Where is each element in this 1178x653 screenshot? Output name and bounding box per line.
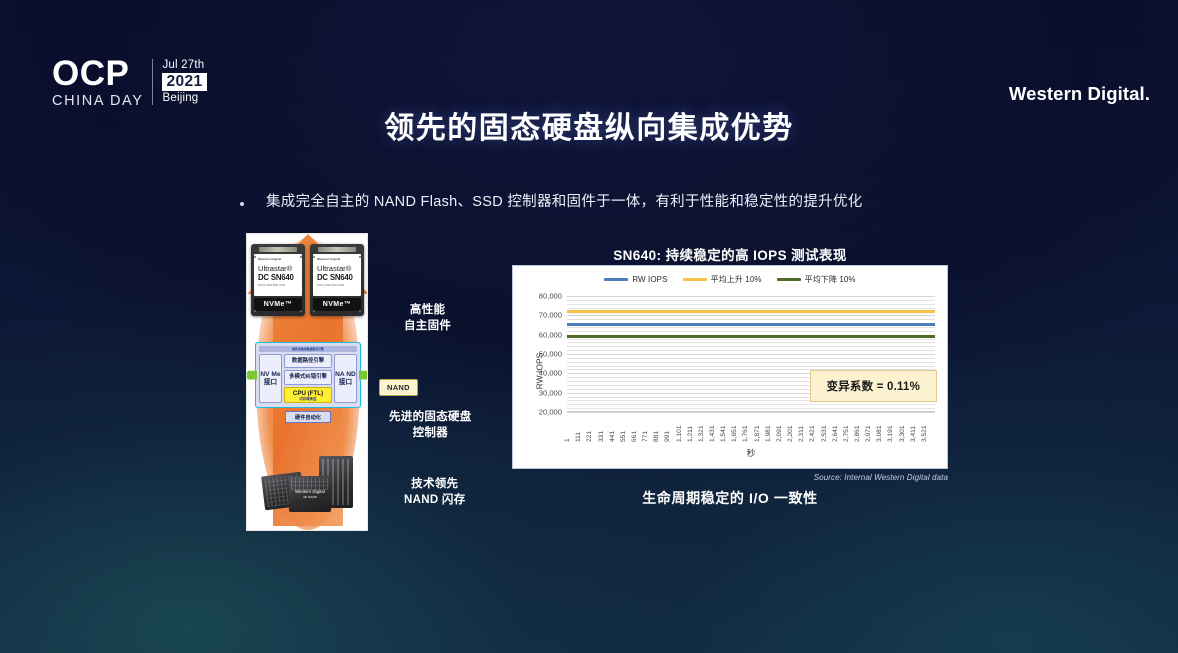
logo-divider xyxy=(152,59,153,105)
chart-inner: RW IOPS平均上升 10%平均下降 10% 80,00070,00060,0… xyxy=(517,270,943,464)
y-axis-tick-label: 80,000 xyxy=(539,292,562,301)
bullet-row: 集成完全自主的 NAND Flash、SSD 控制器和固件于一体，有利于性能和稳… xyxy=(240,192,863,212)
label-line-1: 先进的固态硬盘 xyxy=(389,410,472,426)
x-axis-tick-label: 2,091 xyxy=(776,425,783,442)
ssd-nvme-badge: NVMe™ xyxy=(313,298,361,311)
x-axis-tick-label: 1,211 xyxy=(687,426,694,442)
screw-icon xyxy=(359,310,361,312)
legend-swatch xyxy=(777,278,801,281)
gridline xyxy=(567,331,935,332)
x-axis-tick-label: 661 xyxy=(631,431,638,442)
gridline xyxy=(567,339,935,340)
screw-icon xyxy=(359,256,361,258)
legend-swatch xyxy=(604,278,628,281)
chart-legend: RW IOPS平均上升 10%平均下降 10% xyxy=(517,274,943,285)
x-axis-tick-labels: 11112213314415516617718819911,1011,2111,… xyxy=(567,410,935,442)
gridline xyxy=(567,304,935,305)
ssd-model: Ultrastar® DC SN640 xyxy=(258,265,298,281)
x-axis-tick-label: 1,761 xyxy=(742,425,749,442)
diagram-contents: Western Digital Ultrastar® DC SN640 DATA… xyxy=(247,234,367,530)
gridline xyxy=(567,327,935,328)
cpu-ftl-label: CPU (FTL) xyxy=(293,390,323,397)
x-axis-tick-label: 2,421 xyxy=(809,425,816,442)
diagram-label-firmware: 高性能 自主固件 xyxy=(404,303,451,334)
ssd-model-line1: Ultrastar® xyxy=(258,264,292,273)
chip-type: 3D NAND xyxy=(289,495,331,499)
y-axis-tick-label: 70,000 xyxy=(539,311,562,320)
event-year: 2021 xyxy=(162,73,206,91)
x-axis-tick-label: 551 xyxy=(620,431,627,442)
ssd-nvme-badge: NVMe™ xyxy=(254,298,302,311)
diagram-label-nand: 技术领先 NAND 闪存 xyxy=(404,477,466,508)
label-line-1: 高性能 xyxy=(404,303,451,319)
gridline xyxy=(567,358,935,359)
ssd-card: Western Digital Ultrastar® DC SN640 DATA… xyxy=(251,244,305,316)
gridline xyxy=(567,296,935,297)
x-axis-tick-label: 2,751 xyxy=(843,425,850,442)
gridline xyxy=(567,366,935,367)
nand-callout-tag: NAND xyxy=(379,379,418,396)
ssd-product-row: Western Digital Ultrastar® DC SN640 DATA… xyxy=(251,244,364,316)
gridline xyxy=(567,350,935,351)
x-axis-tick-label: 1,431 xyxy=(709,425,716,442)
ssd-model-line2: DC SN640 xyxy=(317,274,357,282)
nvme-interface-port: NV Me 接口 xyxy=(259,354,282,403)
y-axis-tick-label: 60,000 xyxy=(539,330,562,339)
data-series-line xyxy=(567,323,935,326)
y-axis-tick-label: 30,000 xyxy=(539,388,562,397)
event-date: Jul 27th xyxy=(162,59,206,73)
coefficient-of-variation-callout: 变异系数 = 0.11% xyxy=(810,370,937,402)
iops-chart-card: RW IOPS平均上升 10%平均下降 10% 80,00070,00060,0… xyxy=(512,265,948,469)
x-axis-tick-label: 1 xyxy=(564,438,571,442)
x-axis-tick-label: 111 xyxy=(575,432,582,442)
data-series-line xyxy=(567,335,935,338)
nand-chip-front: Western Digital 3D NAND xyxy=(289,476,331,512)
screw-icon xyxy=(313,256,315,258)
ecc-engine-box: 多模式纠错引擎 xyxy=(284,370,332,384)
ssd-brand: Western Digital xyxy=(258,257,298,261)
ssd-brand: Western Digital xyxy=(317,257,357,261)
vertical-integration-diagram: Western Digital Ultrastar® DC SN640 DATA… xyxy=(246,233,368,531)
x-axis-tick-label: 2,641 xyxy=(832,425,839,442)
legend-item: 平均上升 10% xyxy=(683,274,762,285)
ssd-connector xyxy=(259,247,297,252)
gridline xyxy=(567,354,935,355)
gridline xyxy=(567,300,935,301)
chart-title: SN640: 持续稳定的高 IOPS 测试表现 xyxy=(512,244,948,264)
controller-engines: 数据路径引擎 多模式纠错引擎 CPU (FTL) 闪存转换层 xyxy=(284,354,332,403)
x-axis-tick-label: 441 xyxy=(609,431,616,442)
gridline xyxy=(567,315,935,316)
x-axis-tick-label: 3,521 xyxy=(921,425,928,442)
bullet-dot-icon xyxy=(240,202,244,206)
bullet-text: 集成完全自主的 NAND Flash、SSD 控制器和固件于一体，有利于性能和稳… xyxy=(266,192,863,212)
x-axis-tick-label: 771 xyxy=(642,431,649,442)
ssd-category: DATA CENTER SSD xyxy=(317,283,357,287)
data-series-line xyxy=(567,310,935,313)
ssd-category: DATA CENTER SSD xyxy=(258,283,298,287)
controller-outline: 硬件加速的数据路径引擎 NV Me 接口 数据路径引擎 多模式纠错引擎 CPU … xyxy=(255,342,361,408)
ocp-event-info: Jul 27th 2021 Beijing xyxy=(162,59,206,106)
ssd-card: Western Digital Ultrastar® DC SN640 DATA… xyxy=(310,244,364,316)
x-axis-tick-label: 3,081 xyxy=(876,425,883,442)
ssd-connector xyxy=(318,247,356,252)
y-axis-title: RW IOPS xyxy=(534,353,544,390)
gridline xyxy=(567,404,935,405)
ssd-controller-block: 硬件加速的数据路径引擎 NV Me 接口 数据路径引擎 多模式纠错引擎 CPU … xyxy=(255,342,361,423)
x-axis-tick-label: 2,531 xyxy=(821,425,828,442)
ssd-model: Ultrastar® DC SN640 xyxy=(317,265,357,281)
ocp-china-day-logo: OCP CHINA DAY Jul 27th 2021 Beijing xyxy=(52,56,207,109)
screw-icon xyxy=(254,310,256,312)
cpu-ftl-sublabel: 闪存转换层 xyxy=(286,397,330,401)
x-axis-tick-label: 2,311 xyxy=(798,426,805,442)
left-arrow-icon xyxy=(246,371,257,380)
controller-header: 硬件加速的数据路径引擎 xyxy=(259,346,357,352)
x-axis-tick-label: 331 xyxy=(598,431,605,442)
ssd-model-line2: DC SN640 xyxy=(258,274,298,282)
controller-columns: NV Me 接口 数据路径引擎 多模式纠错引擎 CPU (FTL) 闪存转换层 … xyxy=(259,354,357,403)
chip-brand-label: Western Digital 3D NAND xyxy=(289,489,331,499)
legend-item: RW IOPS xyxy=(604,275,667,284)
diagram-label-controller: 先进的固态硬盘 控制器 xyxy=(389,410,472,441)
x-axis-tick-label: 1,871 xyxy=(754,425,761,442)
legend-item: 平均下降 10% xyxy=(777,274,856,285)
legend-swatch xyxy=(683,278,707,281)
x-axis-title: 秒 xyxy=(567,447,935,459)
ssd-label-face: Western Digital Ultrastar® DC SN640 DATA… xyxy=(313,254,361,296)
nand-chip-group: Western Digital 3D NAND xyxy=(261,452,357,514)
screw-icon xyxy=(300,256,302,258)
x-axis-tick-label: 3,411 xyxy=(910,426,917,442)
x-axis-tick-label: 1,651 xyxy=(731,425,738,442)
x-axis-tick-label: 1,981 xyxy=(765,425,772,442)
hardware-automation-tag: 硬件自动化 xyxy=(285,411,331,423)
ocp-logo-left: OCP CHINA DAY xyxy=(52,56,143,109)
screw-icon xyxy=(254,256,256,258)
cpu-ftl-box: CPU (FTL) 闪存转换层 xyxy=(284,387,332,404)
gridline xyxy=(567,342,935,343)
page-title: 领先的固态硬盘纵向集成优势 xyxy=(0,103,1178,147)
ssd-label-face: Western Digital Ultrastar® DC SN640 DATA… xyxy=(254,254,302,296)
x-axis-tick-label: 3,191 xyxy=(887,425,894,442)
label-line-2: 控制器 xyxy=(389,426,472,442)
x-axis-tick-label: 3,301 xyxy=(899,425,906,442)
chart-source-note: Source: Internal Western Digital data xyxy=(512,473,948,482)
x-axis-tick-label: 2,971 xyxy=(865,425,872,442)
nand-interface-port: NA ND 接口 xyxy=(334,354,357,403)
x-axis-tick-label: 221 xyxy=(586,431,593,442)
gridline xyxy=(567,319,935,320)
gridline xyxy=(567,362,935,363)
chip-brand: Western Digital xyxy=(295,489,325,494)
western-digital-logo: Western Digital. xyxy=(1009,83,1150,105)
screw-icon xyxy=(300,310,302,312)
ocp-wordmark: OCP xyxy=(52,56,143,91)
y-axis-tick-label: 20,000 xyxy=(539,408,562,417)
ssd-model-line1: Ultrastar® xyxy=(317,264,351,273)
data-path-engine-box: 数据路径引擎 xyxy=(284,354,332,368)
right-arrow-icon xyxy=(359,371,368,380)
x-axis-tick-label: 2,861 xyxy=(854,425,861,442)
gridline xyxy=(567,308,935,309)
legend-label: RW IOPS xyxy=(632,275,667,284)
x-axis-tick-label: 1,321 xyxy=(698,425,705,442)
legend-label: 平均下降 10% xyxy=(805,274,856,285)
x-axis-tick-label: 1,541 xyxy=(720,425,727,442)
gridline xyxy=(567,346,935,347)
label-line-1: 技术领先 xyxy=(404,477,466,493)
label-line-2: NAND 闪存 xyxy=(404,493,466,509)
legend-label: 平均上升 10% xyxy=(711,274,762,285)
x-axis-tick-label: 1,101 xyxy=(676,425,683,442)
x-axis-tick-label: 881 xyxy=(653,431,660,442)
x-axis-tick-label: 991 xyxy=(664,431,671,442)
screw-icon xyxy=(313,310,315,312)
chart-caption: 生命周期稳定的 I/O 一致性 xyxy=(512,488,948,508)
label-line-2: 自主固件 xyxy=(404,319,451,335)
x-axis-tick-label: 2,201 xyxy=(787,425,794,442)
gridline xyxy=(567,408,935,409)
